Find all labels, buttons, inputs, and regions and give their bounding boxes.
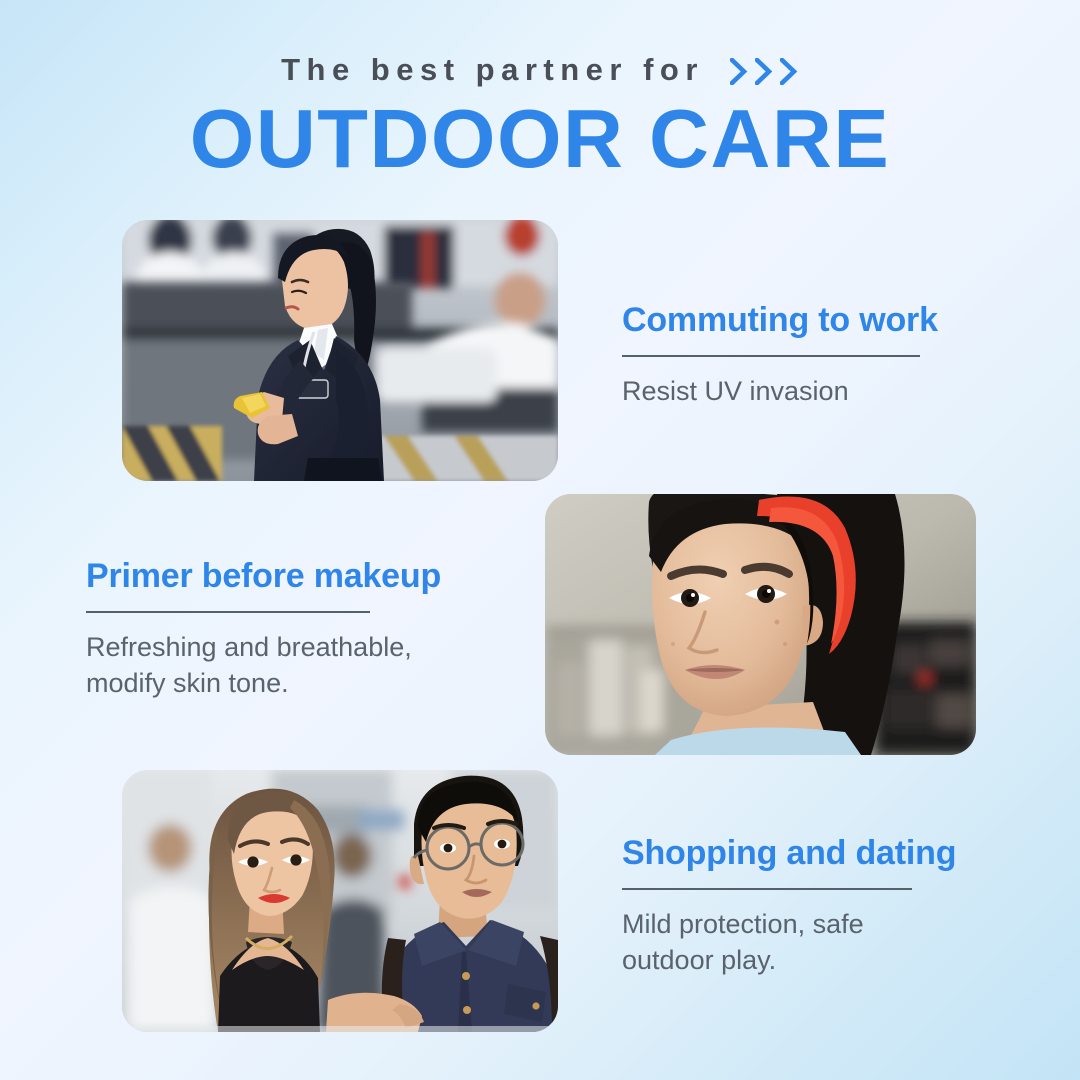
divider	[622, 888, 912, 890]
block-description-primer: Refreshing and breathable, modify skin t…	[86, 630, 506, 701]
chevron-right-icon	[780, 58, 799, 85]
poster-canvas: The best partner for OUTDOOR CARE	[0, 0, 1080, 1080]
photo-primer-illustration	[545, 494, 976, 755]
photo-commuting	[122, 220, 558, 481]
text-block-shopping: Shopping and dating Mild protection, saf…	[622, 835, 1022, 979]
block-title-primer: Primer before makeup	[86, 558, 506, 595]
poster-header: The best partner for OUTDOOR CARE	[0, 48, 1080, 179]
block-title-commuting: Commuting to work	[622, 302, 1002, 339]
divider	[86, 611, 370, 613]
photo-primer	[545, 494, 976, 755]
photo-shopping	[122, 770, 558, 1032]
photo-shopping-illustration	[122, 770, 558, 1032]
block-description-shopping: Mild protection, safe outdoor play.	[622, 907, 1022, 978]
text-block-commuting: Commuting to work Resist UV invasion	[622, 302, 1002, 410]
kicker-text: The best partner for	[281, 52, 704, 88]
text-block-primer: Primer before makeup Refreshing and brea…	[86, 558, 506, 702]
block-description-commuting: Resist UV invasion	[622, 374, 1002, 410]
chevron-right-icon	[730, 58, 749, 85]
chevron-right-icon	[755, 58, 774, 85]
block-title-shopping: Shopping and dating	[622, 835, 1022, 872]
kicker-row: The best partner for	[0, 48, 1080, 92]
page-title: OUTDOOR CARE	[0, 98, 1080, 179]
photo-commuting-illustration	[122, 220, 558, 481]
chevron-group	[730, 58, 799, 85]
divider	[622, 355, 920, 357]
